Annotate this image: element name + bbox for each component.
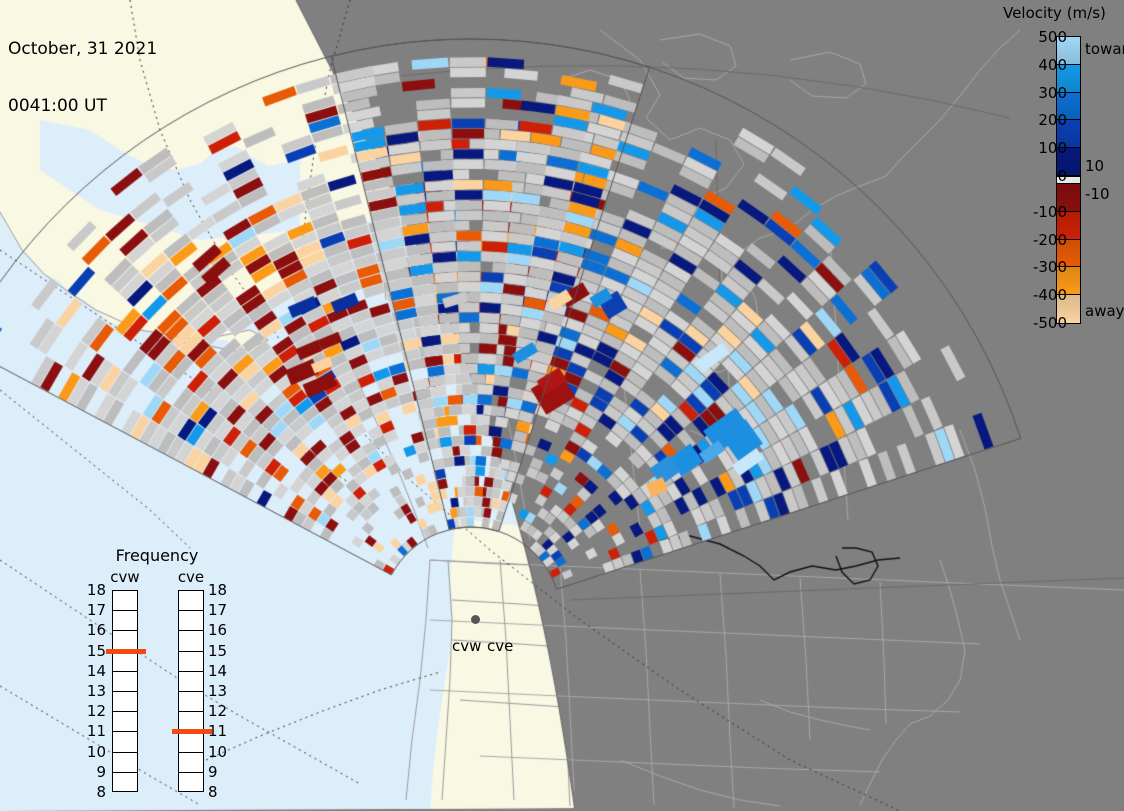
- frequency-segment: [179, 773, 203, 793]
- colorbar-tick-300: 300: [1038, 84, 1067, 102]
- frequency-segment: [113, 692, 137, 712]
- frequency-tick-8: 8: [84, 783, 106, 801]
- frequency-legend-title: Frequency: [82, 546, 232, 565]
- frequency-tick-12: 12: [84, 702, 106, 720]
- colorbar-tick-500: 500: [1038, 28, 1067, 46]
- frequency-segment: [113, 672, 137, 692]
- frequency-tick-12: 12: [208, 702, 227, 720]
- colorbar-tick-200: 200: [1038, 111, 1067, 129]
- frequency-segment: [179, 631, 203, 651]
- velocity-legend: Velocity (m/s) 5004003002001000-100-200-…: [985, 0, 1124, 340]
- frequency-segment: [113, 611, 137, 631]
- frequency-bar-cvw: [112, 590, 138, 792]
- frequency-tick-8: 8: [208, 783, 218, 801]
- frequency-tick-17: 17: [208, 601, 227, 619]
- colorbar-tick-neg100: -100: [1033, 203, 1067, 221]
- frequency-bar-cve: [178, 590, 204, 792]
- timestamp-time: 0041:00 UT: [8, 97, 157, 116]
- timestamp: October, 31 2021 0041:00 UT: [8, 2, 157, 154]
- colorbar-tick-0: 0: [1057, 167, 1067, 185]
- frequency-segment: [113, 591, 137, 611]
- colorbar-label-away: away: [1085, 302, 1124, 320]
- frequency-tick-18: 18: [208, 581, 227, 599]
- frequency-tick-10: 10: [208, 743, 227, 761]
- colorbar-tick-neg300: -300: [1033, 258, 1067, 276]
- frequency-tick-16: 16: [84, 621, 106, 639]
- frequency-segment: [179, 591, 203, 611]
- radar-site-label-cvw: cvw: [452, 637, 481, 655]
- frequency-tick-15: 15: [84, 642, 106, 660]
- frequency-tick-10: 10: [84, 743, 106, 761]
- frequency-marker-cve: [172, 729, 212, 734]
- frequency-tick-14: 14: [84, 662, 106, 680]
- frequency-segment: [179, 652, 203, 672]
- frequency-segment: [179, 611, 203, 631]
- frequency-segment: [113, 732, 137, 752]
- timestamp-date: October, 31 2021: [8, 40, 157, 59]
- frequency-segment: [179, 732, 203, 752]
- frequency-tick-9: 9: [208, 763, 218, 781]
- colorbar-tick-100: 100: [1038, 139, 1067, 157]
- frequency-tick-9: 9: [84, 763, 106, 781]
- frequency-segment: [179, 753, 203, 773]
- frequency-segment: [179, 672, 203, 692]
- frequency-tick-14: 14: [208, 662, 227, 680]
- frequency-tick-17: 17: [84, 601, 106, 619]
- colorbar-label-toward: toward: [1085, 40, 1124, 58]
- colorbar-label-positive-threshold: 10: [1085, 157, 1104, 175]
- frequency-tick-13: 13: [208, 682, 227, 700]
- radar-site-label-cve: cve: [487, 637, 513, 655]
- frequency-segment: [113, 753, 137, 773]
- frequency-marker-cvw: [106, 649, 146, 654]
- colorbar-label-negative-threshold: -10: [1085, 185, 1110, 203]
- frequency-segment: [113, 773, 137, 793]
- frequency-legend: Frequency cvwcve181817171616151514141313…: [82, 546, 232, 786]
- frequency-tick-11: 11: [208, 722, 227, 740]
- frequency-column-label-cve: cve: [171, 568, 211, 586]
- frequency-segment: [113, 712, 137, 732]
- frequency-tick-18: 18: [84, 581, 106, 599]
- frequency-segment: [113, 652, 137, 672]
- frequency-segment: [179, 692, 203, 712]
- velocity-legend-title: Velocity (m/s): [985, 4, 1124, 22]
- frequency-tick-16: 16: [208, 621, 227, 639]
- colorbar-tick-neg400: -400: [1033, 286, 1067, 304]
- frequency-tick-13: 13: [84, 682, 106, 700]
- frequency-column-label-cvw: cvw: [105, 568, 145, 586]
- colorbar-tick-400: 400: [1038, 56, 1067, 74]
- frequency-tick-15: 15: [208, 642, 227, 660]
- radar-site-marker: [471, 615, 480, 624]
- colorbar-tick-neg500: -500: [1033, 314, 1067, 332]
- frequency-tick-11: 11: [84, 722, 106, 740]
- radar-map-view: October, 31 2021 0041:00 UT Velocity (m/…: [0, 0, 1124, 811]
- colorbar-tick-neg200: -200: [1033, 231, 1067, 249]
